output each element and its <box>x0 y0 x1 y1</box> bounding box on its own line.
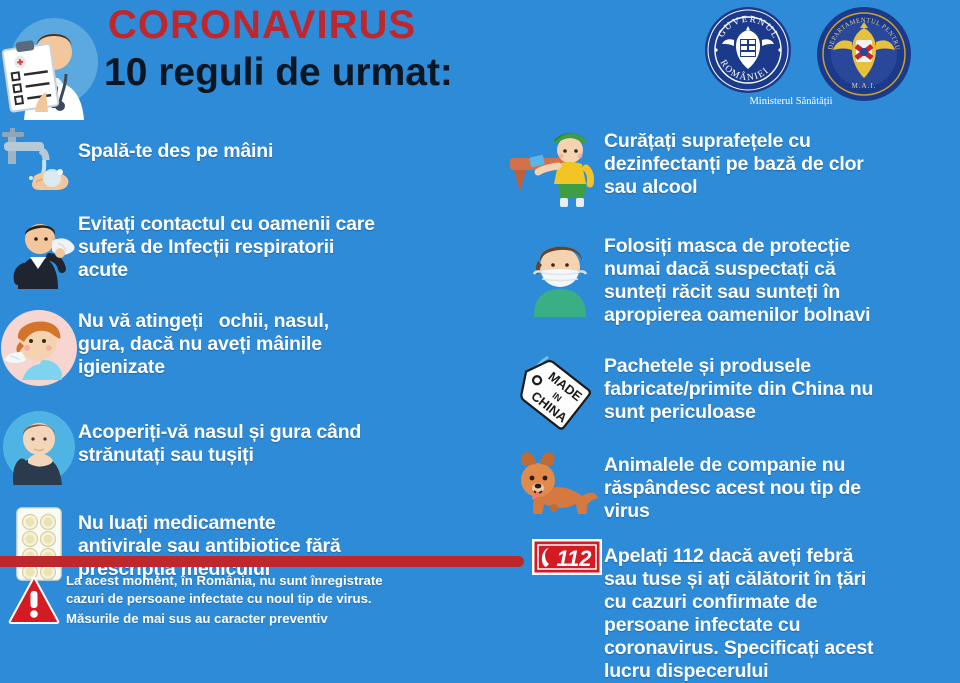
rule-item: Animalele de companie nu răspândesc aces… <box>508 450 960 531</box>
rule-text: Pachetele și produsele fabricate/primite… <box>604 355 873 424</box>
rule-text: Evitați contactul cu oamenii care suferă… <box>78 213 375 282</box>
rule-text: Nu vă atingeți ochii, nasul, gura, dacă … <box>78 310 329 379</box>
rule-text: Folosiți masca de protecție numai dacă s… <box>604 235 870 327</box>
rule-item: Nu vă atingeți ochii, nasul, gura, dacă … <box>0 308 500 393</box>
rule-text: Curățați suprafețele cu dezinfectanți pe… <box>604 130 864 199</box>
rules-column-right: Curățați suprafețele cu dezinfectanți pe… <box>508 128 960 683</box>
header: CORONAVIRUS 10 reguli de urmat: GUVERNUL… <box>0 0 960 122</box>
footer-warning: La acest moment, în România, nu sunt înr… <box>0 572 530 634</box>
person-face-mask-icon <box>508 233 604 322</box>
infographic-poster: CORONAVIRUS 10 reguli de urmat: GUVERNUL… <box>0 0 960 635</box>
page-title: CORONAVIRUS <box>100 2 700 48</box>
rule-text: Nu luați medicamente antivirale sau anti… <box>78 512 341 581</box>
footer-line-1: La acest moment, în România, nu sunt înr… <box>66 573 383 588</box>
rule-item: Evitați contactul cu oamenii care suferă… <box>0 211 500 294</box>
rule-text: Spală-te des pe mâini <box>78 140 273 163</box>
warning-triangle-icon <box>8 575 60 625</box>
rule-text: Acoperiți-vă nasul și gura când strănuta… <box>78 421 361 467</box>
guvernul-romaniei-seal-icon: GUVERNUL ROMÂNIEI <box>704 6 792 94</box>
rule-text: Animalele de companie nu răspândesc aces… <box>604 454 861 523</box>
title-block: CORONAVIRUS 10 reguli de urmat: <box>100 2 700 96</box>
ministry-label: Ministerul Sănătății <box>696 96 886 107</box>
made-in-china-tag-icon: MADE IN CHINA <box>508 349 604 438</box>
emergency-112-badge-icon: 112 <box>532 539 602 575</box>
dog-pet-icon <box>508 450 604 531</box>
svg-text:112: 112 <box>556 546 592 571</box>
rule-item: Acoperiți-vă nasul și gura când strănuta… <box>0 409 500 490</box>
departamentul-situatii-urgenta-seal-icon: DEPARTAMENTUL PENTRU SITUAȚII DE URGENȚĂ… <box>816 6 912 102</box>
man-sneezing-tissue-icon <box>0 211 78 294</box>
footer-line-2: cazuri de persoane infectate cu noul tip… <box>66 591 372 606</box>
doctor-with-clipboard-icon <box>2 4 102 120</box>
footer-text: La acest moment, în România, nu sunt înr… <box>66 572 516 628</box>
faucet-handwashing-icon <box>0 128 78 199</box>
red-divider-bar <box>0 556 524 567</box>
page-subtitle: 10 reguli de urmat: <box>100 48 700 96</box>
boy-sneezing-icon <box>0 308 78 393</box>
rule-text: Apelați 112 dacă aveți febră sau tuse și… <box>604 545 873 683</box>
cleaning-surface-icon <box>508 128 604 213</box>
footer-line-3: Măsurile de mai sus au caracter preventi… <box>66 610 516 628</box>
header-logos: GUVERNUL ROMÂNIEI <box>696 4 952 120</box>
rule-item: Curățați suprafețele cu dezinfectanți pe… <box>508 128 960 213</box>
person-covering-mouth-icon <box>0 409 78 490</box>
rule-item: MADE IN CHINA Pachetele și produsele fab… <box>508 349 960 438</box>
rule-item: Folosiți masca de protecție numai dacă s… <box>508 233 960 327</box>
rule-item: Spală-te des pe mâini <box>0 128 500 199</box>
svg-text:M.A.I.: M.A.I. <box>852 82 877 90</box>
rules-column-left: Spală-te des pe mâini <box>0 128 500 589</box>
